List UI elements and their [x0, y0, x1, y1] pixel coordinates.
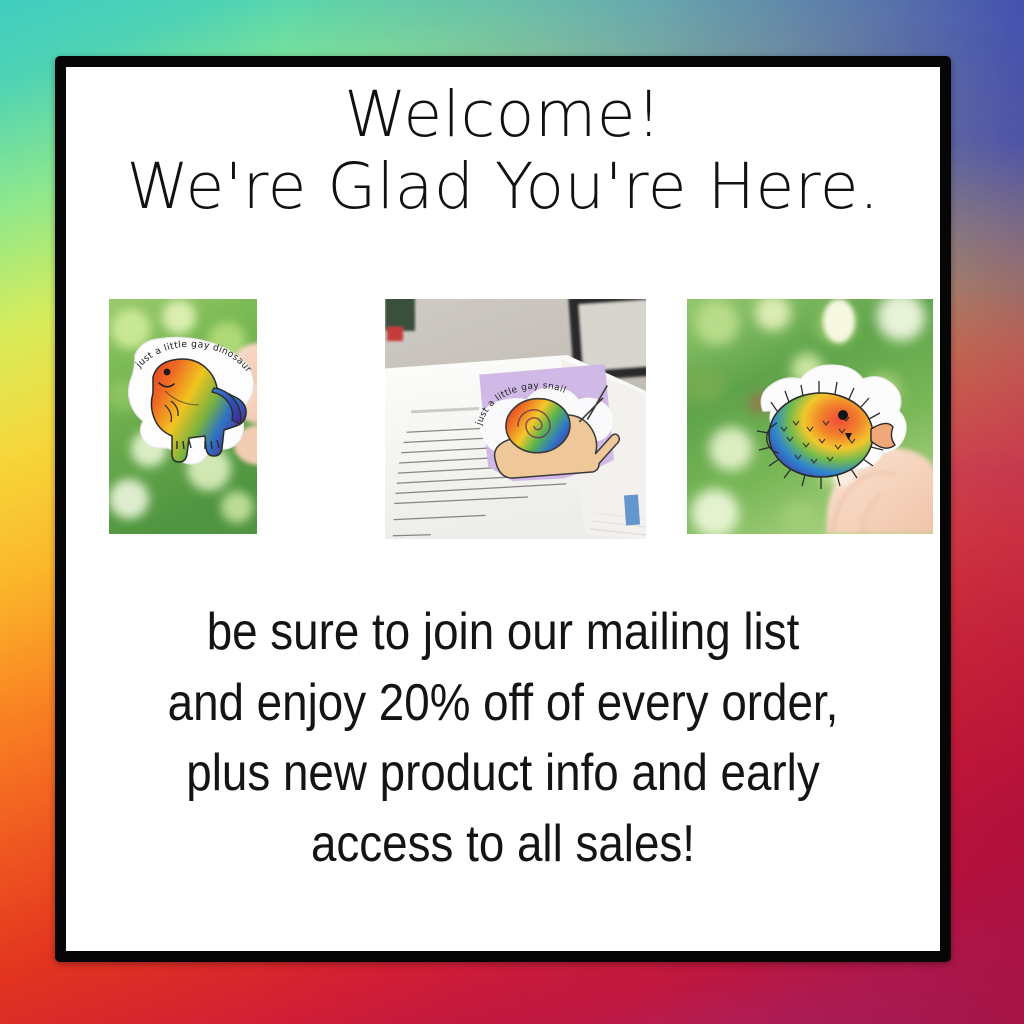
snail-photo-image: just a little gay snail	[385, 299, 646, 539]
black-card-frame: Welcome! We're Glad You're Here.	[55, 56, 951, 962]
promo-graphic: Welcome! We're Glad You're Here.	[0, 0, 1024, 1024]
headline-block: Welcome! We're Glad You're Here.	[66, 67, 940, 221]
snail-sticker-photo: just a little gay snail	[385, 299, 646, 539]
body-line-2: and enjoy 20% off of every order,	[118, 668, 887, 739]
white-card: Welcome! We're Glad You're Here.	[66, 67, 940, 951]
body-line-4: access to all sales!	[118, 809, 887, 880]
body-copy-block: be sure to join our mailing list and enj…	[66, 597, 940, 880]
dinosaur-photo-image: just a little gay dinosaur	[109, 299, 257, 534]
body-line-1: be sure to join our mailing list	[118, 597, 887, 668]
dinosaur-sticker-photo: just a little gay dinosaur	[109, 299, 257, 534]
headline-line-1: Welcome!	[66, 81, 940, 149]
body-line-3: plus new product info and early	[118, 738, 887, 809]
pufferfish-sticker-photo	[687, 299, 933, 534]
headline-line-2: We're Glad You're Here.	[66, 153, 940, 221]
pufferfish-photo-image	[687, 299, 933, 534]
product-photo-strip: just a little gay dinosaur	[66, 299, 940, 549]
